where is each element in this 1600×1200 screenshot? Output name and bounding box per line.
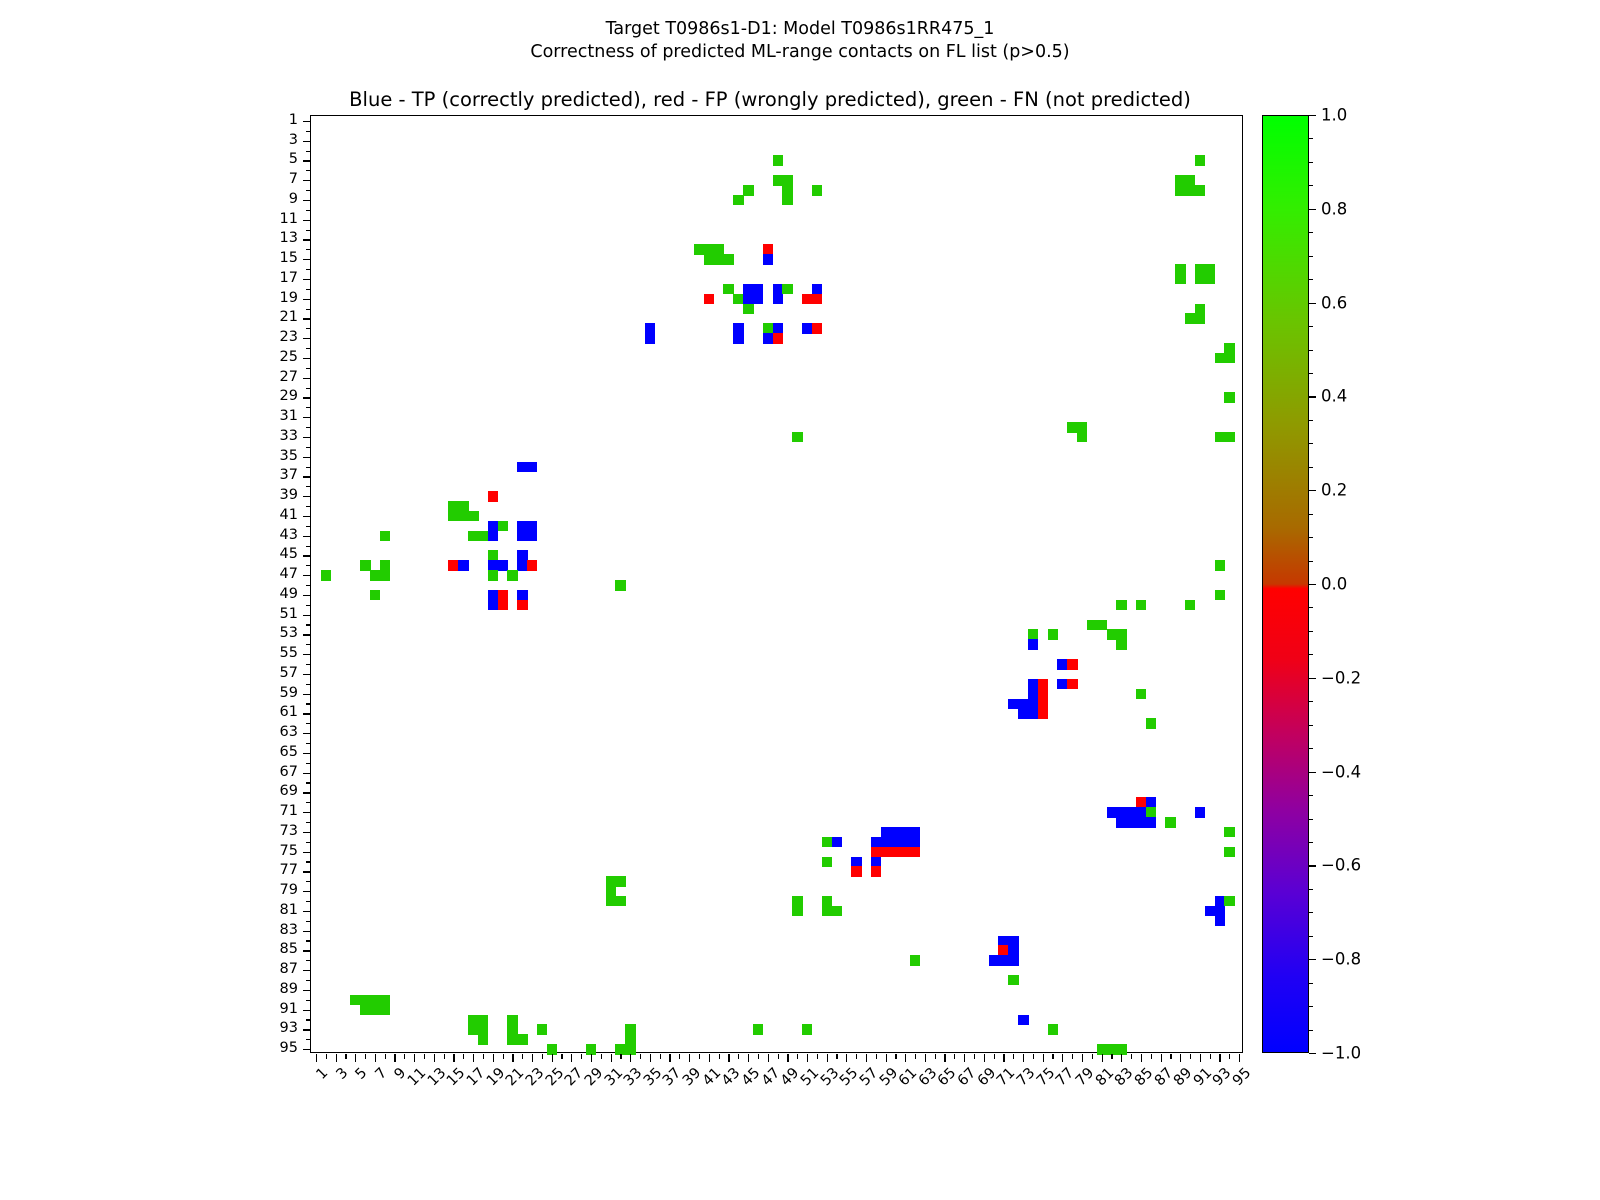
y-tick <box>303 259 311 260</box>
contact-cell <box>478 1034 488 1044</box>
y-tick <box>303 536 311 537</box>
contact-cell <box>812 185 822 195</box>
colorbar-minor-tick <box>1309 631 1313 632</box>
colorbar-minor-tick <box>1309 1053 1313 1054</box>
colorbar-tick-label: 0.6 <box>1321 293 1347 312</box>
y-axis-tick-label: 33 <box>280 428 298 444</box>
y-tick <box>306 644 311 645</box>
y-axis-tick-label: 43 <box>280 527 298 543</box>
colorbar-minor-tick <box>1309 959 1313 960</box>
contact-cell <box>1146 718 1156 728</box>
colorbar-minor-tick <box>1309 467 1313 468</box>
contact-cell <box>773 155 783 165</box>
contact-cell <box>527 560 537 570</box>
contact-cell <box>910 847 920 857</box>
contact-cell <box>1146 817 1156 827</box>
y-axis-tick-label: 25 <box>280 349 298 365</box>
y-tick <box>306 723 311 724</box>
colorbar-tick-label: 0.2 <box>1321 481 1347 500</box>
y-axis-tick-label: 19 <box>280 290 298 306</box>
y-tick <box>306 664 311 665</box>
y-tick <box>303 970 311 971</box>
x-axis-tick-label: 95 <box>1230 1065 1254 1089</box>
y-axis-tick-label: 9 <box>289 191 298 207</box>
y-tick <box>306 289 311 290</box>
contact-cell <box>1018 1015 1028 1025</box>
contact-cell <box>1215 590 1225 600</box>
contact-cell <box>1185 600 1195 610</box>
colorbar-minor-tick <box>1309 865 1313 866</box>
y-axis-tick-label: 71 <box>280 803 298 819</box>
contact-cell <box>812 294 822 304</box>
colorbar-minor-tick <box>1309 490 1313 491</box>
y-tick <box>306 802 311 803</box>
y-tick <box>303 397 311 398</box>
y-tick <box>306 861 311 862</box>
contact-cell <box>537 1024 547 1034</box>
y-tick <box>303 733 311 734</box>
y-tick <box>303 753 311 754</box>
y-tick <box>303 417 311 418</box>
y-axis-tick-label: 35 <box>280 448 298 464</box>
y-tick <box>303 674 311 675</box>
contact-cell <box>792 906 802 916</box>
contact-cell <box>615 580 625 590</box>
contact-cell <box>517 1034 527 1044</box>
y-tick <box>306 249 311 250</box>
y-axis-tick-label: 81 <box>280 902 298 918</box>
y-tick <box>303 812 311 813</box>
y-axis-tick-label: 63 <box>280 724 298 740</box>
contact-cell <box>1048 629 1058 639</box>
x-axis-tick-label: 5 <box>353 1065 371 1083</box>
y-axis-tick-label: 93 <box>280 1020 298 1036</box>
y-tick <box>303 358 311 359</box>
y-tick <box>303 713 311 714</box>
y-tick <box>306 743 311 744</box>
contact-cell <box>1224 847 1234 857</box>
y-tick <box>303 299 311 300</box>
contact-cell <box>1195 155 1205 165</box>
colorbar-minor-tick <box>1309 584 1313 585</box>
contact-cell <box>910 955 920 965</box>
contact-cell <box>1195 185 1205 195</box>
y-tick <box>303 457 311 458</box>
y-tick <box>303 773 311 774</box>
y-tick <box>306 565 311 566</box>
y-tick <box>306 901 311 902</box>
contact-cell <box>527 462 537 472</box>
legend-subtitle: Blue - TP (correctly predicted), red - F… <box>0 88 1540 111</box>
contact-cell <box>1215 916 1225 926</box>
y-axis-tick-label: 53 <box>280 625 298 641</box>
y-tick <box>306 921 311 922</box>
contact-cell <box>645 333 655 343</box>
colorbar-minor-tick <box>1309 326 1313 327</box>
colorbar-minor-tick <box>1309 1006 1313 1007</box>
y-axis-tick-label: 7 <box>289 171 298 187</box>
contact-cell <box>773 294 783 304</box>
y-tick <box>306 486 311 487</box>
figure-title: Target T0986s1-D1: Model T0986s1RR475_1 … <box>0 18 1600 64</box>
colorbar-minor-tick <box>1309 209 1313 210</box>
contact-cell <box>380 570 390 580</box>
y-axis-tick-label: 95 <box>280 1040 298 1056</box>
y-tick <box>306 1000 311 1001</box>
y-tick <box>306 467 311 468</box>
colorbar-minor-tick <box>1309 912 1313 913</box>
contact-cell <box>1136 600 1146 610</box>
y-axis-tick-label: 51 <box>280 606 298 622</box>
contact-cell <box>1067 659 1077 669</box>
y-tick <box>306 269 311 270</box>
contact-cell <box>615 896 625 906</box>
colorbar <box>1262 115 1309 1053</box>
y-tick <box>303 1029 311 1030</box>
y-tick <box>303 160 311 161</box>
y-axis-tick-label: 27 <box>280 369 298 385</box>
y-tick <box>303 200 311 201</box>
y-axis-tick-label: 1 <box>289 112 298 128</box>
y-tick <box>306 368 311 369</box>
contact-cell <box>488 531 498 541</box>
contact-cell <box>733 333 743 343</box>
y-axis-tick-label: 41 <box>280 507 298 523</box>
y-tick <box>303 931 311 932</box>
y-axis-tick-label: 45 <box>280 546 298 562</box>
colorbar-minor-tick <box>1309 396 1313 397</box>
y-axis-tick-label: 89 <box>280 981 298 997</box>
y-axis-tick-label: 47 <box>280 566 298 582</box>
contact-cell <box>615 876 625 886</box>
contact-cell <box>792 432 802 442</box>
colorbar-minor-tick <box>1309 279 1313 280</box>
contact-cell <box>1136 689 1146 699</box>
contact-cell <box>507 570 517 580</box>
y-axis-tick-label: 21 <box>280 309 298 325</box>
y-tick <box>306 684 311 685</box>
contact-cell <box>802 1024 812 1034</box>
contact-cell <box>704 294 714 304</box>
x-axis-labels: 1357911131517192123252729313335373941434… <box>310 1053 1243 1153</box>
colorbar-tick-label: 0.4 <box>1321 387 1347 406</box>
y-tick <box>303 694 311 695</box>
y-tick <box>306 842 311 843</box>
y-tick <box>306 210 311 211</box>
y-tick <box>306 309 311 310</box>
contact-cell <box>370 590 380 600</box>
y-tick <box>306 585 311 586</box>
y-axis-tick-label: 87 <box>280 961 298 977</box>
y-tick <box>303 437 311 438</box>
y-tick <box>303 1049 311 1050</box>
contact-cell <box>1224 392 1234 402</box>
colorbar-ticks: 1.00.80.60.40.20.0−0.2−0.4−0.6−0.8−1.0 <box>1309 115 1369 1053</box>
y-axis-tick-label: 29 <box>280 388 298 404</box>
y-axis-tick-label: 15 <box>280 250 298 266</box>
y-tick <box>306 447 311 448</box>
colorbar-tick-label: −0.6 <box>1321 856 1361 875</box>
colorbar-minor-tick <box>1309 303 1313 304</box>
contact-cell <box>1038 708 1048 718</box>
y-tick <box>303 378 311 379</box>
colorbar-minor-tick <box>1309 795 1313 796</box>
contact-cell <box>1224 827 1234 837</box>
y-axis-tick-label: 17 <box>280 270 298 286</box>
y-axis-tick-label: 75 <box>280 843 298 859</box>
contact-cells-layer <box>311 116 1242 1052</box>
contact-cell <box>1195 807 1205 817</box>
contact-cell <box>380 1005 390 1015</box>
contact-cell <box>832 906 842 916</box>
title-line-1: Target T0986s1-D1: Model T0986s1RR475_1 <box>0 18 1600 41</box>
colorbar-minor-tick <box>1309 138 1313 139</box>
contact-cell <box>1116 600 1126 610</box>
y-axis-tick-label: 39 <box>280 487 298 503</box>
colorbar-minor-tick <box>1309 443 1313 444</box>
contact-cell <box>488 491 498 501</box>
y-tick <box>303 634 311 635</box>
y-axis-tick-label: 59 <box>280 685 298 701</box>
y-axis-tick-label: 79 <box>280 882 298 898</box>
contact-cell <box>468 511 478 521</box>
contact-cell <box>1008 955 1018 965</box>
y-axis-tick-label: 37 <box>280 467 298 483</box>
y-tick <box>306 624 311 625</box>
y-axis-tick-label: 85 <box>280 941 298 957</box>
y-tick <box>306 427 311 428</box>
y-tick <box>306 1039 311 1040</box>
y-tick <box>306 940 311 941</box>
y-tick <box>306 822 311 823</box>
colorbar-minor-tick <box>1309 936 1313 937</box>
colorbar-tick-label: −0.8 <box>1321 950 1361 969</box>
y-tick <box>303 615 311 616</box>
colorbar-minor-tick <box>1309 185 1313 186</box>
contact-cell <box>822 857 832 867</box>
contact-cell <box>1048 1024 1058 1034</box>
colorbar-minor-tick <box>1309 350 1313 351</box>
y-tick <box>306 230 311 231</box>
y-axis-tick-label: 49 <box>280 586 298 602</box>
y-axis-tick-label: 83 <box>280 922 298 938</box>
contact-cell <box>1195 313 1205 323</box>
y-tick <box>306 605 311 606</box>
y-tick <box>306 703 311 704</box>
y-tick <box>306 763 311 764</box>
contact-cell <box>733 195 743 205</box>
contact-cell <box>1205 274 1215 284</box>
colorbar-tick-label: −0.2 <box>1321 668 1361 687</box>
colorbar-minor-tick <box>1309 561 1313 562</box>
y-tick <box>306 546 311 547</box>
colorbar-minor-tick <box>1309 514 1313 515</box>
y-tick <box>303 220 311 221</box>
y-axis-tick-label: 55 <box>280 645 298 661</box>
y-axis-tick-label: 57 <box>280 665 298 681</box>
contact-cell <box>1067 679 1077 689</box>
y-tick <box>306 526 311 527</box>
contact-cell <box>517 600 527 610</box>
colorbar-minor-tick <box>1309 772 1313 773</box>
colorbar-minor-tick <box>1309 842 1313 843</box>
colorbar-minor-tick <box>1309 232 1313 233</box>
y-tick <box>306 1019 311 1020</box>
y-axis-tick-label: 61 <box>280 704 298 720</box>
y-axis-tick-label: 5 <box>289 151 298 167</box>
y-tick <box>306 348 311 349</box>
y-tick <box>306 407 311 408</box>
y-tick <box>303 911 311 912</box>
y-tick <box>303 792 311 793</box>
y-tick <box>303 595 311 596</box>
y-tick <box>303 871 311 872</box>
colorbar-minor-tick <box>1309 748 1313 749</box>
contact-cell <box>753 1024 763 1034</box>
y-tick <box>303 318 311 319</box>
contact-cell <box>1175 274 1185 284</box>
colorbar-minor-tick <box>1309 256 1313 257</box>
y-axis-tick-label: 67 <box>280 764 298 780</box>
x-axis-tick-label: 3 <box>333 1065 351 1083</box>
colorbar-tick-label: −0.4 <box>1321 762 1361 781</box>
y-tick <box>303 1010 311 1011</box>
y-tick <box>303 990 311 991</box>
contact-cell <box>321 570 331 580</box>
y-axis-tick-label: 65 <box>280 744 298 760</box>
colorbar-tick-label: −1.0 <box>1321 1044 1361 1063</box>
contact-cell <box>851 866 861 876</box>
colorbar-minor-tick <box>1309 115 1313 116</box>
contact-cell <box>1008 975 1018 985</box>
contact-cell <box>1165 817 1175 827</box>
contact-cell <box>773 333 783 343</box>
x-axis-tick-label: 7 <box>372 1065 390 1083</box>
y-axis-tick-label: 3 <box>289 132 298 148</box>
y-tick <box>303 279 311 280</box>
contact-map-plot <box>310 115 1243 1053</box>
colorbar-minor-tick <box>1309 607 1313 608</box>
y-tick <box>306 388 311 389</box>
contact-cell <box>527 531 537 541</box>
y-tick <box>306 506 311 507</box>
colorbar-minor-tick <box>1309 983 1313 984</box>
contact-cell <box>743 185 753 195</box>
contact-cell <box>723 254 733 264</box>
contact-cell <box>782 195 792 205</box>
contact-cell <box>488 570 498 580</box>
x-axis-tick-label: 1 <box>313 1065 331 1083</box>
y-tick <box>303 555 311 556</box>
colorbar-minor-tick <box>1309 819 1313 820</box>
y-axis-tick-label: 31 <box>280 408 298 424</box>
contact-cell <box>871 866 881 876</box>
contact-cell <box>1028 639 1038 649</box>
y-tick <box>306 960 311 961</box>
colorbar-tick-label: 0.8 <box>1321 199 1347 218</box>
colorbar-minor-tick <box>1309 701 1313 702</box>
y-tick <box>306 151 311 152</box>
y-tick <box>306 782 311 783</box>
y-tick <box>303 476 311 477</box>
colorbar-minor-tick <box>1309 654 1313 655</box>
y-tick <box>303 950 311 951</box>
y-axis-tick-label: 69 <box>280 783 298 799</box>
y-tick <box>306 328 311 329</box>
contact-cell <box>763 254 773 264</box>
contact-map-page: Target T0986s1-D1: Model T0986s1RR475_1 … <box>0 0 1600 1200</box>
y-tick <box>303 239 311 240</box>
contact-cell <box>782 284 792 294</box>
y-axis-tick-label: 23 <box>280 329 298 345</box>
y-tick <box>303 516 311 517</box>
y-axis-tick-label: 73 <box>280 823 298 839</box>
y-tick <box>303 338 311 339</box>
contact-cell <box>380 531 390 541</box>
colorbar-minor-tick <box>1309 1030 1313 1031</box>
contact-cell <box>1224 432 1234 442</box>
y-tick <box>303 141 311 142</box>
colorbar-tick-label: 0.0 <box>1321 575 1347 594</box>
title-line-2: Correctness of predicted ML-range contac… <box>0 41 1600 64</box>
colorbar-minor-tick <box>1309 889 1313 890</box>
contact-cell <box>1116 639 1126 649</box>
contact-cell <box>832 837 842 847</box>
colorbar-minor-tick <box>1309 420 1313 421</box>
contact-cell <box>458 560 468 570</box>
y-tick <box>303 180 311 181</box>
contact-cell <box>498 521 508 531</box>
y-tick <box>306 980 311 981</box>
y-axis-tick-label: 11 <box>280 211 298 227</box>
contact-cell <box>1215 560 1225 570</box>
y-tick <box>303 852 311 853</box>
y-axis-tick-label: 91 <box>280 1001 298 1017</box>
colorbar-minor-tick <box>1309 162 1313 163</box>
contact-cell <box>1077 432 1087 442</box>
y-axis-tick-label: 77 <box>280 862 298 878</box>
y-tick <box>303 575 311 576</box>
y-tick <box>303 891 311 892</box>
y-tick <box>306 170 311 171</box>
y-axis-tick-label: 13 <box>280 230 298 246</box>
contact-cell <box>753 294 763 304</box>
y-tick <box>303 121 311 122</box>
y-tick <box>303 496 311 497</box>
y-tick <box>306 881 311 882</box>
contact-cell <box>1224 353 1234 363</box>
colorbar-minor-tick <box>1309 537 1313 538</box>
colorbar-tick-label: 1.0 <box>1321 106 1347 125</box>
colorbar-minor-tick <box>1309 725 1313 726</box>
contact-cell <box>1224 896 1234 906</box>
y-tick <box>303 832 311 833</box>
contact-cell <box>743 304 753 314</box>
contact-cell <box>812 323 822 333</box>
y-tick <box>306 190 311 191</box>
contact-cell <box>498 600 508 610</box>
colorbar-minor-tick <box>1309 678 1313 679</box>
y-tick <box>306 131 311 132</box>
colorbar-minor-tick <box>1309 373 1313 374</box>
y-tick <box>303 654 311 655</box>
